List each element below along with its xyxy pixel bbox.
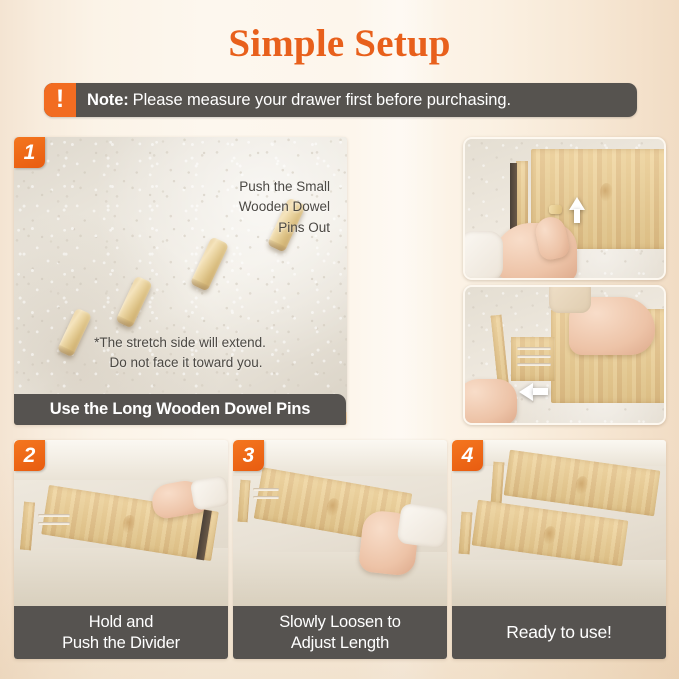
- sleeve: [190, 475, 228, 511]
- step-2-caption: Hold and Push the Divider: [14, 606, 228, 659]
- note-label: Note:: [87, 91, 129, 110]
- note-message: Please measure your drawer first before …: [133, 91, 511, 110]
- note-text: Note: Please measure your drawer first b…: [76, 83, 637, 117]
- step-badge-1: 1: [14, 137, 45, 168]
- exclamation-icon: !: [44, 83, 76, 117]
- step-4-panel: 4 Ready to use!: [452, 440, 666, 659]
- sleeve-right: [549, 287, 591, 313]
- step-2-panel: 2 Hold and Push the Divider: [14, 440, 228, 659]
- step-1-panel: Push the Small Wooden Dowel Pins Out *Th…: [14, 137, 347, 425]
- sleeve: [465, 231, 503, 278]
- arrow-up-tail: [574, 209, 580, 223]
- detail-panel-pull-pin: [463, 137, 666, 280]
- slot: [253, 496, 279, 499]
- step-3-panel: 3 Slowly Loosen to Adjust Length: [233, 440, 447, 659]
- detail-panel-slide-divider: [463, 285, 666, 425]
- step-badge-2: 2: [14, 440, 45, 471]
- slot: [38, 522, 70, 525]
- slot: [517, 355, 551, 358]
- step-3-caption: Slowly Loosen to Adjust Length: [233, 606, 447, 659]
- exclamation-glyph: !: [56, 87, 64, 112]
- bamboo-edge-shadow: [510, 163, 517, 233]
- note-banner: ! Note: Please measure your drawer first…: [44, 83, 637, 117]
- dowel-pin-protruding: [549, 205, 562, 214]
- step-badge-4: 4: [452, 440, 483, 471]
- sleeve: [396, 503, 447, 549]
- slot: [517, 347, 551, 350]
- step-badge-3: 3: [233, 440, 264, 471]
- detail-image-pull-pin: [465, 139, 664, 278]
- annotation-stretch-side: *The stretch side will extend. Do not fa…: [30, 333, 330, 374]
- instruction-infographic: Simple Setup ! Note: Please measure your…: [0, 0, 679, 679]
- drawer-back-wall: [14, 440, 228, 480]
- slot: [38, 514, 70, 517]
- arrow-left-icon: [519, 383, 533, 401]
- page-title: Simple Setup: [0, 21, 679, 66]
- step-1-caption: Use the Long Wooden Dowel Pins: [14, 394, 346, 425]
- hand-left: [465, 379, 517, 423]
- drawer-floor: [452, 560, 666, 606]
- step-4-caption: Ready to use!: [452, 606, 666, 659]
- stretch-slots: [38, 514, 70, 530]
- bamboo-side-panel: [516, 161, 528, 233]
- annotation-push-pins-out: Push the Small Wooden Dowel Pins Out: [198, 177, 330, 238]
- stretch-slots: [517, 347, 551, 371]
- stretch-slots: [253, 488, 279, 504]
- detail-image-slide-divider: [465, 287, 664, 423]
- arrow-left-tail: [533, 388, 548, 395]
- slot: [517, 363, 551, 366]
- slot: [253, 488, 279, 491]
